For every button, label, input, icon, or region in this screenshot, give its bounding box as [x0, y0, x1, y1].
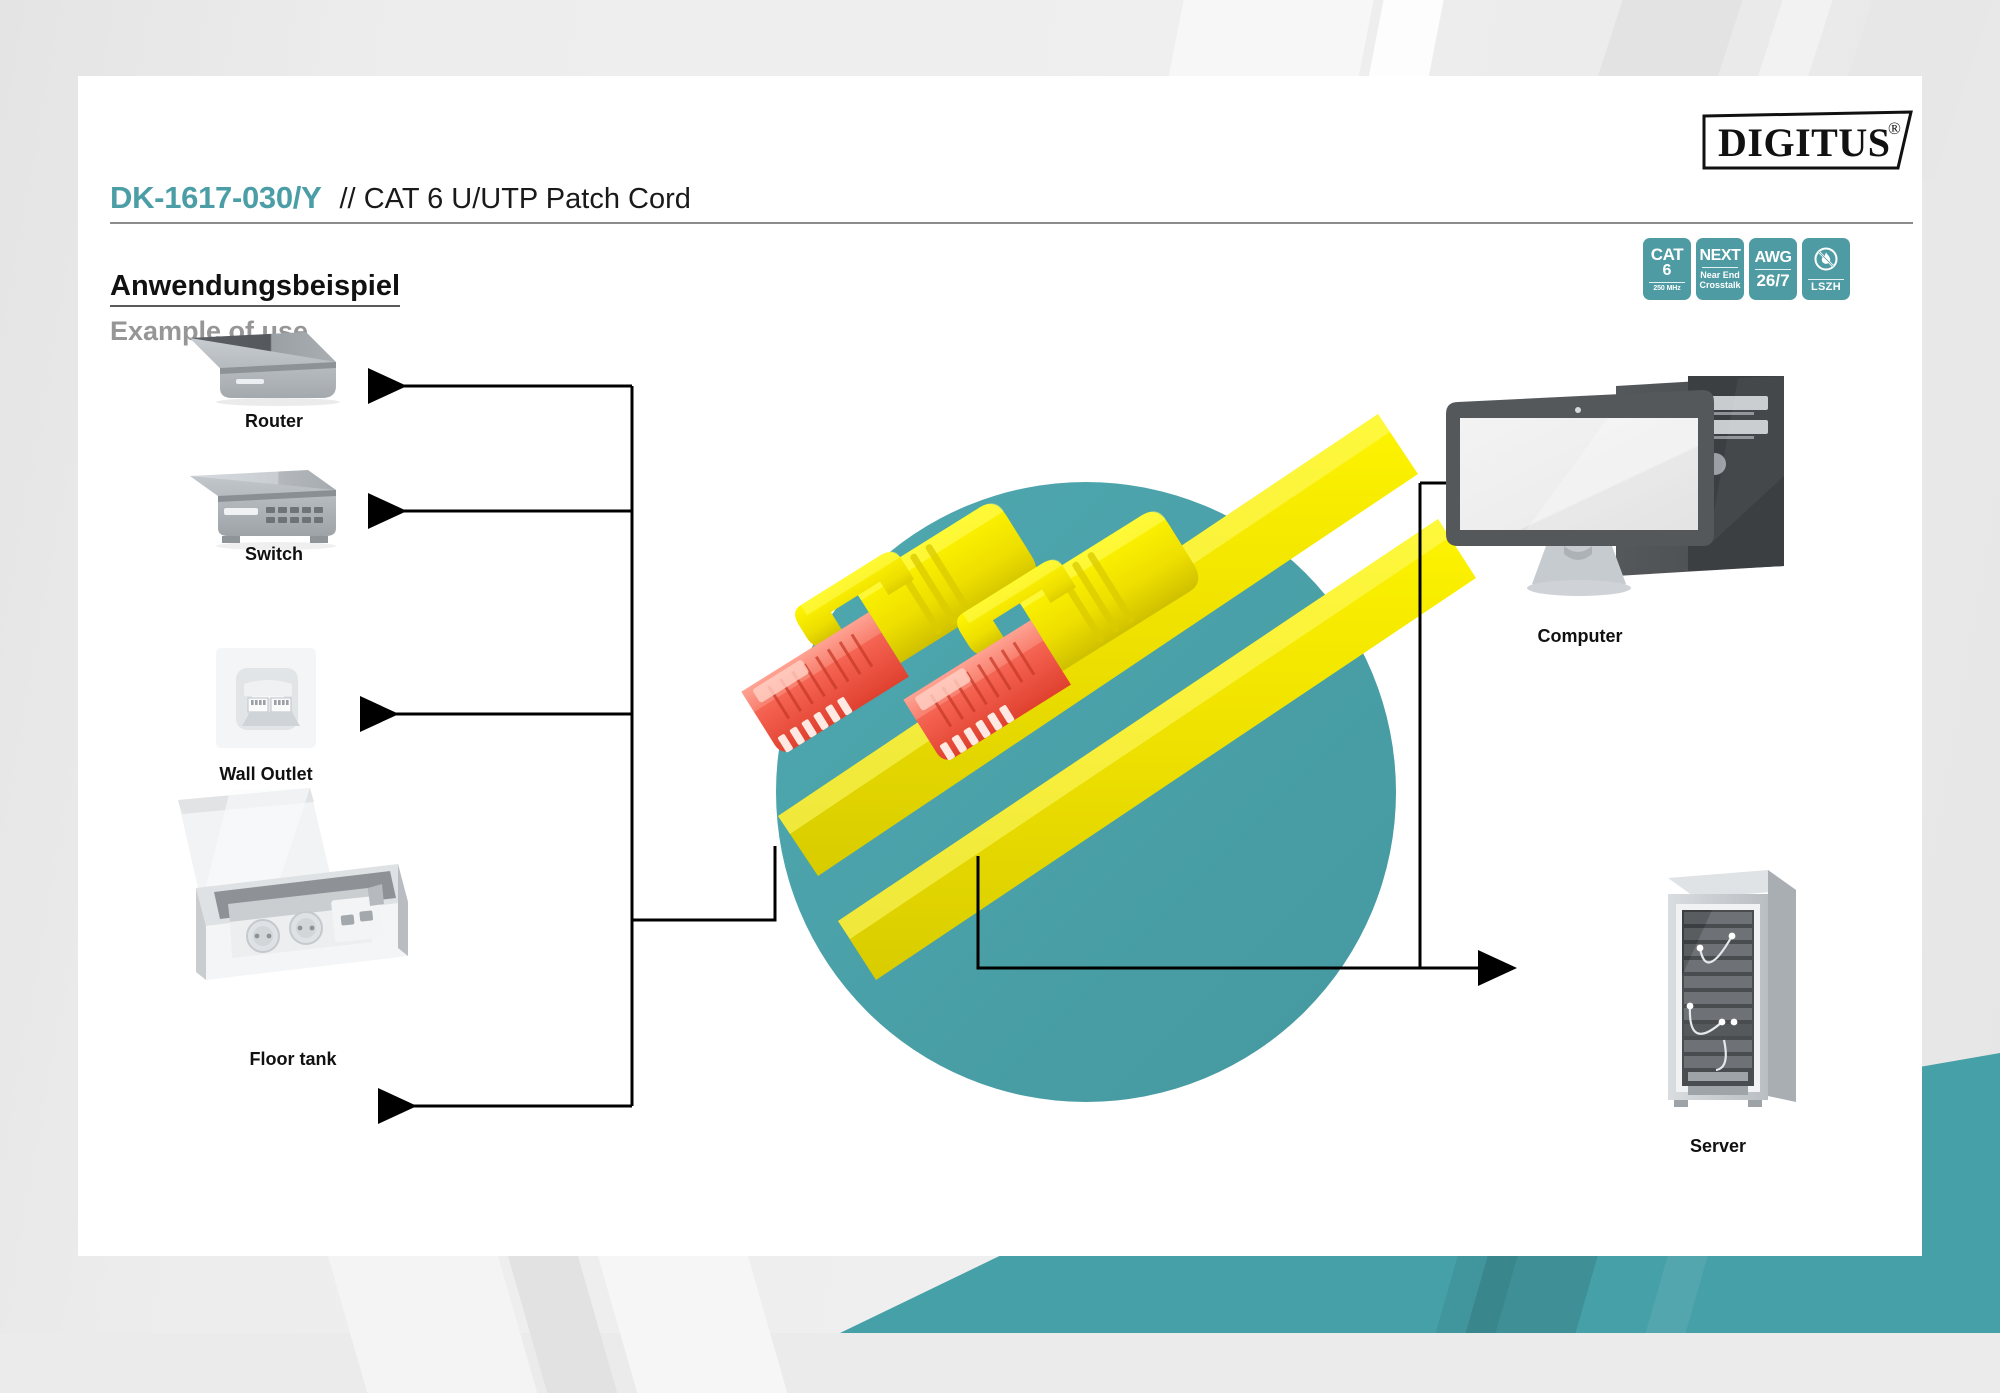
application-diagram: Router Switch Wall Outlet Floor tank Com… — [78, 76, 1922, 1256]
wall-outlet-icon — [216, 648, 316, 748]
switch-icon — [190, 470, 336, 550]
wall-outlet-label: Wall Outlet — [219, 764, 312, 785]
router-icon — [190, 332, 340, 406]
computer-label: Computer — [1538, 626, 1623, 647]
computer-icon — [1446, 376, 1784, 596]
product-image-circle — [719, 414, 1476, 1102]
switch-label: Switch — [245, 544, 303, 565]
floor-tank-icon — [178, 788, 408, 980]
floor-tank-label: Floor tank — [249, 1049, 336, 1070]
server-icon — [1668, 870, 1796, 1107]
server-label: Server — [1690, 1136, 1746, 1157]
router-label: Router — [245, 411, 303, 432]
connector-lines-left — [360, 386, 775, 1106]
